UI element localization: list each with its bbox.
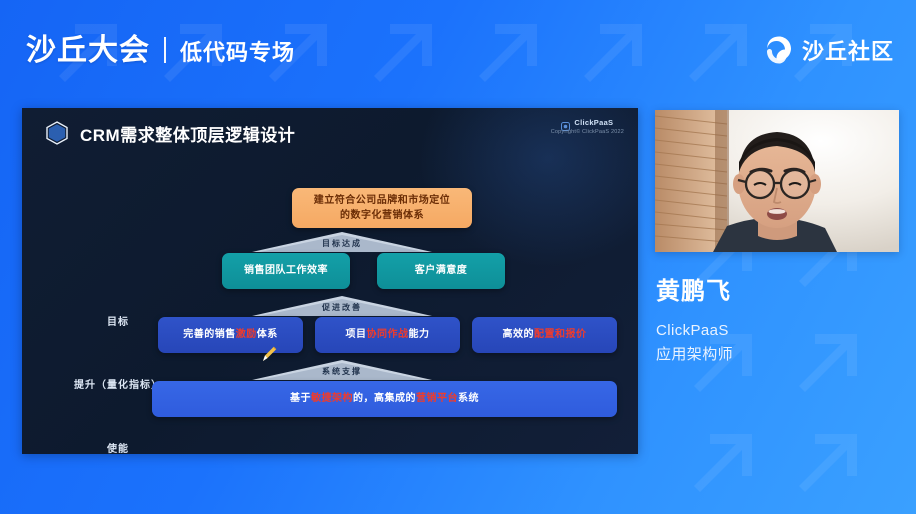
connector-promote-improve-label: 促进改善 (252, 302, 432, 313)
connector-system-support: 系统支撑 (252, 360, 432, 382)
sandhill-community-logo: 沙丘社区 (764, 34, 894, 66)
connector-goal-achieve: 目标达成 (252, 232, 432, 254)
enable-box-incentive-post: 体系 (257, 327, 278, 343)
goal-box-line1: 建立符合公司品牌和市场定位 (314, 193, 451, 209)
enable-box-configure-quote-pre: 高效的 (503, 327, 535, 343)
enable-box-collaboration: 项目协同作战能力 (315, 317, 460, 353)
title-separator (164, 37, 166, 63)
enable-box-collaboration-pre: 项目 (346, 327, 367, 343)
speaker-webcam-video[interactable] (655, 110, 899, 252)
speaker-info: 黄鹏飞 ClickPaaS 应用架构师 (656, 278, 906, 367)
slide-title: CRM需求整体顶层逻辑设计 (44, 120, 295, 146)
speaker-name: 黄鹏飞 (656, 278, 906, 307)
goal-box: 建立符合公司品牌和市场定位 的数字化营销体系 (292, 188, 472, 228)
slide-title-text: CRM需求整体顶层逻辑设计 (80, 121, 295, 146)
speaker-company: ClickPaaS (656, 319, 906, 343)
support-box-highlight-2: 营销平台 (416, 391, 458, 407)
presentation-stage: 沙丘大会 低代码专场 沙丘社区 CRM需求整体顶层逻辑设计 (0, 0, 916, 514)
event-header: 沙丘大会 低代码专场 沙丘社区 (0, 0, 916, 100)
support-box-pre: 基于 (290, 391, 311, 407)
enable-box-configure-quote-highlight: 配置和报价 (534, 327, 587, 343)
connector-goal-achieve-label: 目标达成 (252, 238, 432, 249)
speaker-role: 应用架构师 (656, 343, 906, 367)
goal-box-line2: 的数字化营销体系 (340, 208, 424, 224)
presentation-slide: CRM需求整体顶层逻辑设计 ClickPaaS Copyright© Click… (22, 108, 638, 454)
enable-box-collaboration-post: 能力 (409, 327, 430, 343)
enable-box-incentive: 完善的销售激励体系 (158, 317, 303, 353)
clickpaas-copyright: Copyright© ClickPaaS 2022 (551, 129, 624, 135)
support-box-post: 系统 (458, 391, 479, 407)
enable-box-incentive-pre: 完善的销售 (183, 327, 236, 343)
support-box-mid: 的，高集成的 (353, 391, 416, 407)
enable-box-configure-quote: 高效的配置和报价 (472, 317, 617, 353)
clickpaas-watermark: ClickPaaS Copyright© ClickPaaS 2022 (551, 118, 624, 135)
connector-system-support-label: 系统支撑 (252, 366, 432, 377)
hexagon-icon (44, 120, 70, 146)
metric-box-customer-satisfaction: 客户满意度 (377, 253, 505, 289)
event-title-main: 沙丘大会 (26, 36, 150, 66)
support-box-highlight-1: 敏捷架构 (311, 391, 353, 407)
sandhill-community-label: 沙丘社区 (802, 34, 894, 66)
clickpaas-mark-icon (561, 118, 570, 127)
sandhill-s-mark-icon (764, 35, 794, 65)
support-box: 基于敏捷架构的，高集成的营销平台系统 (152, 381, 617, 417)
event-title: 沙丘大会 低代码专场 (26, 34, 295, 66)
metric-box-sales-efficiency: 销售团队工作效率 (222, 253, 350, 289)
clickpaas-name: ClickPaaS (574, 118, 613, 127)
connector-promote-improve: 促进改善 (252, 296, 432, 318)
event-title-sub: 低代码专场 (180, 42, 295, 64)
enable-box-collaboration-highlight: 协同作战 (367, 327, 409, 343)
row-label-enable: 使能 (58, 440, 178, 454)
speaker-details: ClickPaaS 应用架构师 (656, 319, 906, 367)
enable-box-incentive-highlight: 激励 (236, 327, 257, 343)
